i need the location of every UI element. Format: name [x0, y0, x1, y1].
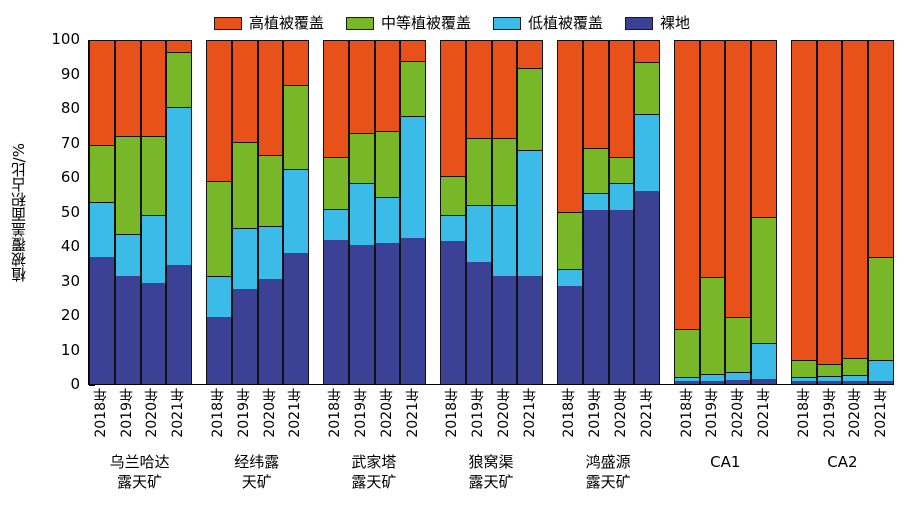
x-axis-tick-label: 2020年 [842, 388, 868, 450]
bar-segment [233, 40, 257, 141]
group-spacer [543, 388, 557, 450]
bar-segment [701, 40, 725, 277]
x-axis-tick-label-text: 2018年 [325, 388, 345, 438]
bar-segment [610, 157, 634, 183]
x-axis-tick-label: 2021年 [165, 388, 191, 450]
bar-segment [167, 40, 191, 52]
legend-swatch-high-vegetation [214, 17, 242, 30]
bar-segment [350, 133, 374, 183]
x-axis-tick-label: 2021年 [634, 388, 660, 450]
bar-segment [467, 40, 491, 138]
x-axis-tick-label-text: 2021年 [871, 388, 891, 438]
group-spacer [777, 40, 791, 384]
y-axis-tick-label: 0 [70, 375, 80, 393]
bar-segment [518, 276, 542, 384]
bar-segment [584, 210, 608, 384]
group-label-line: 露天矿 [351, 472, 396, 492]
bar-segment [558, 40, 582, 212]
bar-segment [90, 257, 114, 384]
x-axis-tick-label: 2021年 [517, 388, 543, 450]
x-axis-tick-label-text: 2018年 [91, 388, 111, 438]
group-spacer [425, 388, 439, 450]
group-spacer [543, 452, 557, 510]
group-spacer [308, 452, 322, 510]
x-axis-tick-label-text: 2020年 [728, 388, 748, 438]
group-label-line: 露天矿 [117, 472, 162, 492]
legend-label-bare-land: 裸地 [660, 16, 690, 31]
bar-segment [324, 40, 348, 157]
bar-segment [324, 240, 348, 384]
bar-segment [726, 380, 750, 384]
group-label-line: 鸿盛源 [586, 452, 631, 472]
x-axis-tick-label: 2021年 [282, 388, 308, 450]
stacked-bar[interactable] [166, 40, 192, 384]
x-axis-tick-label: 2018年 [322, 388, 348, 450]
bar-segment [142, 40, 166, 136]
group-spacer [308, 388, 322, 450]
bar-segment [116, 136, 140, 234]
legend-item-medium-vegetation: 中等植被覆盖 [346, 16, 471, 31]
group-label: 狼窝渠露天矿 [439, 452, 542, 493]
bar-segment [493, 276, 517, 384]
bar-segment [467, 138, 491, 205]
bar-segment [726, 372, 750, 380]
bar-segment [350, 183, 374, 245]
bar-segment [869, 40, 893, 257]
bar-segment [259, 226, 283, 279]
x-tick-group: 2018年2019年2020年2021年 [88, 388, 191, 450]
bar-segment [792, 40, 816, 360]
bar-segment [558, 269, 582, 286]
bar-segment [376, 40, 400, 131]
group-spacer [191, 452, 205, 510]
x-tick-group: 2018年2019年2020年2021年 [322, 388, 425, 450]
bar-segment [843, 381, 867, 384]
legend-label-high-vegetation: 高植被覆盖 [249, 16, 324, 31]
y-axis-tick-label: 90 [61, 65, 80, 83]
bar-segment [116, 276, 140, 384]
group-spacer [543, 40, 557, 384]
bar-segment [584, 40, 608, 148]
stacked-bar[interactable] [440, 40, 466, 384]
legend-item-low-vegetation: 低植被覆盖 [493, 16, 603, 31]
stacked-bar[interactable] [232, 40, 258, 384]
bar-segment [752, 40, 776, 217]
bar-segment [518, 40, 542, 68]
y-axis-title-text: 植被覆盖面积占比/% [8, 143, 29, 282]
bar-segment [116, 234, 140, 275]
bar-segment [635, 191, 659, 384]
bar-segment [726, 40, 750, 317]
stacked-bar[interactable] [323, 40, 349, 384]
group-label: 乌兰哈达露天矿 [88, 452, 191, 493]
x-axis-tick-label: 2020年 [491, 388, 517, 450]
y-axis-tick-label: 10 [61, 341, 80, 359]
stacked-bar[interactable] [725, 40, 751, 384]
x-axis-tick-label-text: 2019年 [234, 388, 254, 438]
bar-segment [90, 40, 114, 145]
y-axis-title: 植被覆盖面积占比/% [8, 40, 28, 385]
x-axis-tick-label: 2018年 [88, 388, 114, 450]
bar-segment [350, 40, 374, 133]
stacked-bar[interactable] [868, 40, 894, 384]
group-label: 经纬露天矿 [205, 452, 308, 493]
x-axis-tick-label: 2020年 [257, 388, 283, 450]
x-axis-tick-label-text: 2019年 [585, 388, 605, 438]
x-axis-tick-label: 2019年 [582, 388, 608, 450]
x-axis-tick-label-text: 2018年 [208, 388, 228, 438]
bar-segment [233, 289, 257, 384]
legend-label-medium-vegetation: 中等植被覆盖 [381, 16, 471, 31]
bar-segment [207, 40, 231, 181]
bar-segment [701, 374, 725, 381]
group-spacer [191, 388, 205, 450]
group-label: CA2 [791, 452, 894, 472]
x-tick-group: 2018年2019年2020年2021年 [791, 388, 894, 450]
group-spacer [777, 452, 791, 510]
x-axis-tick-label: 2019年 [114, 388, 140, 450]
bar-segment [207, 181, 231, 276]
stacked-bar[interactable] [517, 40, 543, 384]
legend-swatch-low-vegetation [493, 17, 521, 30]
x-axis-tick-label-text: 2021年 [520, 388, 540, 438]
bar-segment [635, 114, 659, 191]
bar-segment [376, 243, 400, 384]
bar-segment [142, 215, 166, 282]
x-axis-tick-label: 2018年 [557, 388, 583, 450]
x-axis-tick-label-text: 2021年 [285, 388, 305, 438]
bar-segment [90, 202, 114, 257]
bar-segment [401, 40, 425, 61]
legend-swatch-bare-land [625, 17, 653, 30]
bar-segment [259, 40, 283, 155]
y-axis-tick-label: 60 [61, 168, 80, 186]
x-tick-group: 2018年2019年2020年2021年 [557, 388, 660, 450]
group-label-line: 武家塔 [351, 452, 396, 472]
x-axis-tick-label-text: 2020年 [377, 388, 397, 438]
x-axis-tick-label-text: 2020年 [494, 388, 514, 438]
bar-segment [401, 116, 425, 238]
stacked-bar[interactable] [349, 40, 375, 384]
x-axis-tick-label: 2021年 [868, 388, 894, 450]
stacked-bar[interactable] [375, 40, 401, 384]
x-axis-tick-label-text: 2020年 [845, 388, 865, 438]
bar-segment [142, 283, 166, 384]
group-label-line: 经纬露 [234, 452, 279, 472]
bar-segment [843, 358, 867, 375]
x-axis-tick-label: 2020年 [140, 388, 166, 450]
y-axis-tick-mark [89, 385, 95, 386]
x-tick-group: 2018年2019年2020年2021年 [674, 388, 777, 450]
bar-segment [792, 381, 816, 384]
bar-segment [752, 217, 776, 343]
bar-segment [401, 238, 425, 384]
x-axis-tick-label-text: 2019年 [468, 388, 488, 438]
y-axis-tick-label: 70 [61, 134, 80, 152]
bar-segment [726, 317, 750, 372]
bar-segment [284, 253, 308, 384]
x-axis-tick-label: 2019年 [699, 388, 725, 450]
x-axis-tick-label: 2019年 [817, 388, 843, 450]
x-axis-tick-label: 2019年 [348, 388, 374, 450]
x-axis-tick-label-text: 2020年 [142, 388, 162, 438]
bar-group [89, 40, 192, 384]
bar-segment [493, 138, 517, 205]
bar-segment [233, 228, 257, 290]
bar-segment [610, 183, 634, 211]
bar-segment [610, 210, 634, 384]
bar-segment [518, 150, 542, 276]
bar-segment [401, 61, 425, 116]
chart-figure: 高植被覆盖 中等植被覆盖 低植被覆盖 裸地 植被覆盖面积占比/% 0102030… [0, 0, 904, 514]
x-axis-tick-label: 2019年 [465, 388, 491, 450]
bar-segment [324, 157, 348, 209]
bar-segment [493, 40, 517, 138]
bar-segment [843, 40, 867, 358]
x-axis-tick-label: 2021年 [400, 388, 426, 450]
group-spacer [777, 388, 791, 450]
bar-segment [467, 262, 491, 384]
bar-group [440, 40, 543, 384]
bar-segment [792, 360, 816, 377]
stacked-bar[interactable] [674, 40, 700, 384]
legend-label-low-vegetation: 低植被覆盖 [528, 16, 603, 31]
group-label-line: 乌兰哈达 [110, 452, 170, 472]
bar-segment [675, 381, 699, 384]
bar-group [323, 40, 426, 384]
stacked-bar[interactable] [283, 40, 309, 384]
stacked-bar[interactable] [583, 40, 609, 384]
bar-segment [869, 360, 893, 381]
legend-item-high-vegetation: 高植被覆盖 [214, 16, 324, 31]
bar-segment [233, 142, 257, 228]
bar-segment [284, 40, 308, 85]
group-spacer [192, 40, 206, 384]
stacked-bar[interactable] [751, 40, 777, 384]
bar-segment [167, 107, 191, 265]
group-spacer [309, 40, 323, 384]
x-axis-group-labels: 乌兰哈达露天矿经纬露天矿武家塔露天矿狼窝渠露天矿鸿盛源露天矿CA1CA2 [88, 452, 894, 510]
bar-segment [167, 52, 191, 107]
stacked-bar[interactable] [700, 40, 726, 384]
group-label: 鸿盛源露天矿 [557, 452, 660, 493]
bar-segment [207, 317, 231, 384]
x-axis-tick-label: 2020年 [725, 388, 751, 450]
bar-segment [635, 40, 659, 62]
bar-segment [167, 265, 191, 384]
bar-groups [89, 40, 894, 384]
x-axis-tick-label: 2018年 [674, 388, 700, 450]
bar-segment [259, 279, 283, 384]
bar-segment [752, 379, 776, 384]
x-axis-tick-label-text: 2018年 [559, 388, 579, 438]
bar-segment [675, 40, 699, 329]
group-spacer [660, 452, 674, 510]
x-axis-tick-label: 2018年 [791, 388, 817, 450]
stacked-bar[interactable] [791, 40, 817, 384]
x-tick-group: 2018年2019年2020年2021年 [205, 388, 308, 450]
bar-segment [284, 169, 308, 253]
bar-segment [701, 277, 725, 373]
bar-group [674, 40, 777, 384]
bar-segment [116, 40, 140, 136]
bar-segment [441, 215, 465, 241]
x-axis-tick-label-text: 2020年 [611, 388, 631, 438]
legend-item-bare-land: 裸地 [625, 16, 690, 31]
bar-group [206, 40, 309, 384]
bar-group [557, 40, 660, 384]
bar-segment [441, 40, 465, 176]
bar-segment [752, 343, 776, 379]
x-axis-tick-label-text: 2021年 [754, 388, 774, 438]
stacked-bar[interactable] [634, 40, 660, 384]
bar-segment [376, 131, 400, 196]
x-axis-tick-label-text: 2019年 [702, 388, 722, 438]
x-axis-tick-label: 2018年 [439, 388, 465, 450]
group-spacer [425, 452, 439, 510]
group-label-line: 露天矿 [586, 472, 631, 492]
x-axis-tick-label-text: 2019年 [117, 388, 137, 438]
y-axis-tick-label: 50 [61, 203, 80, 221]
bar-segment [350, 245, 374, 384]
bar-segment [142, 136, 166, 215]
y-axis-tick-label: 20 [61, 306, 80, 324]
bar-segment [869, 257, 893, 360]
x-axis-tick-label-text: 2020年 [260, 388, 280, 438]
x-axis-tick-label-text: 2018年 [794, 388, 814, 438]
stacked-bar[interactable] [258, 40, 284, 384]
stacked-bar[interactable] [609, 40, 635, 384]
stacked-bar[interactable] [115, 40, 141, 384]
y-axis-tick-label: 100 [51, 30, 80, 48]
x-axis-tick-label: 2021年 [751, 388, 777, 450]
stacked-bar[interactable] [141, 40, 167, 384]
bar-segment [493, 205, 517, 276]
group-label-line: CA1 [710, 452, 740, 472]
chart-legend: 高植被覆盖 中等植被覆盖 低植被覆盖 裸地 [0, 10, 904, 36]
bar-segment [818, 40, 842, 364]
bar-segment [584, 148, 608, 193]
x-axis-tick-label-text: 2021年 [403, 388, 423, 438]
group-label-line: CA2 [827, 452, 857, 472]
bar-segment [441, 176, 465, 216]
group-spacer [660, 40, 674, 384]
bar-segment [701, 381, 725, 384]
group-label-line: 天矿 [242, 472, 272, 492]
bar-group [791, 40, 894, 384]
stacked-bar[interactable] [492, 40, 518, 384]
bar-segment [376, 197, 400, 243]
y-axis-tick-label: 80 [61, 99, 80, 117]
stacked-bar[interactable] [817, 40, 843, 384]
bar-segment [90, 145, 114, 202]
bar-segment [558, 286, 582, 384]
x-tick-group: 2018年2019年2020年2021年 [439, 388, 542, 450]
x-axis-tick-label-text: 2019年 [351, 388, 371, 438]
bar-segment [558, 212, 582, 269]
stacked-bar[interactable] [557, 40, 583, 384]
group-label-line: 露天矿 [468, 472, 513, 492]
bar-segment [284, 85, 308, 169]
stacked-bar[interactable] [206, 40, 232, 384]
y-axis-tick-label: 40 [61, 237, 80, 255]
x-axis-tick-labels: 2018年2019年2020年2021年2018年2019年2020年2021年… [88, 388, 894, 450]
group-spacer [426, 40, 440, 384]
group-label: 武家塔露天矿 [322, 452, 425, 493]
x-axis-tick-label-text: 2019年 [820, 388, 840, 438]
bar-segment [818, 381, 842, 384]
x-axis-tick-label: 2020年 [374, 388, 400, 450]
stacked-bar[interactable] [400, 40, 426, 384]
x-axis-tick-label: 2018年 [205, 388, 231, 450]
x-axis-tick-label: 2020年 [608, 388, 634, 450]
bar-segment [869, 381, 893, 384]
group-label-line: 狼窝渠 [468, 452, 513, 472]
y-axis-tick-label: 30 [61, 272, 80, 290]
bar-segment [518, 68, 542, 151]
stacked-bar[interactable] [466, 40, 492, 384]
x-axis-tick-label-text: 2018年 [442, 388, 462, 438]
bar-segment [610, 40, 634, 157]
group-spacer [660, 388, 674, 450]
stacked-bar[interactable] [842, 40, 868, 384]
plot-area: 0102030405060708090100 [88, 40, 894, 385]
bar-segment [675, 329, 699, 377]
bar-segment [467, 205, 491, 262]
group-label: CA1 [674, 452, 777, 472]
legend-swatch-medium-vegetation [346, 17, 374, 30]
bar-segment [441, 241, 465, 384]
bar-segment [207, 276, 231, 317]
stacked-bar[interactable] [89, 40, 115, 384]
x-axis-tick-label-text: 2021年 [168, 388, 188, 438]
bar-segment [584, 193, 608, 210]
x-axis-tick-label: 2019年 [231, 388, 257, 450]
bar-segment [635, 62, 659, 114]
bar-segment [818, 364, 842, 376]
bar-segment [259, 155, 283, 226]
x-axis-tick-label-text: 2021年 [637, 388, 657, 438]
x-axis-tick-label-text: 2018年 [677, 388, 697, 438]
bar-segment [324, 209, 348, 240]
